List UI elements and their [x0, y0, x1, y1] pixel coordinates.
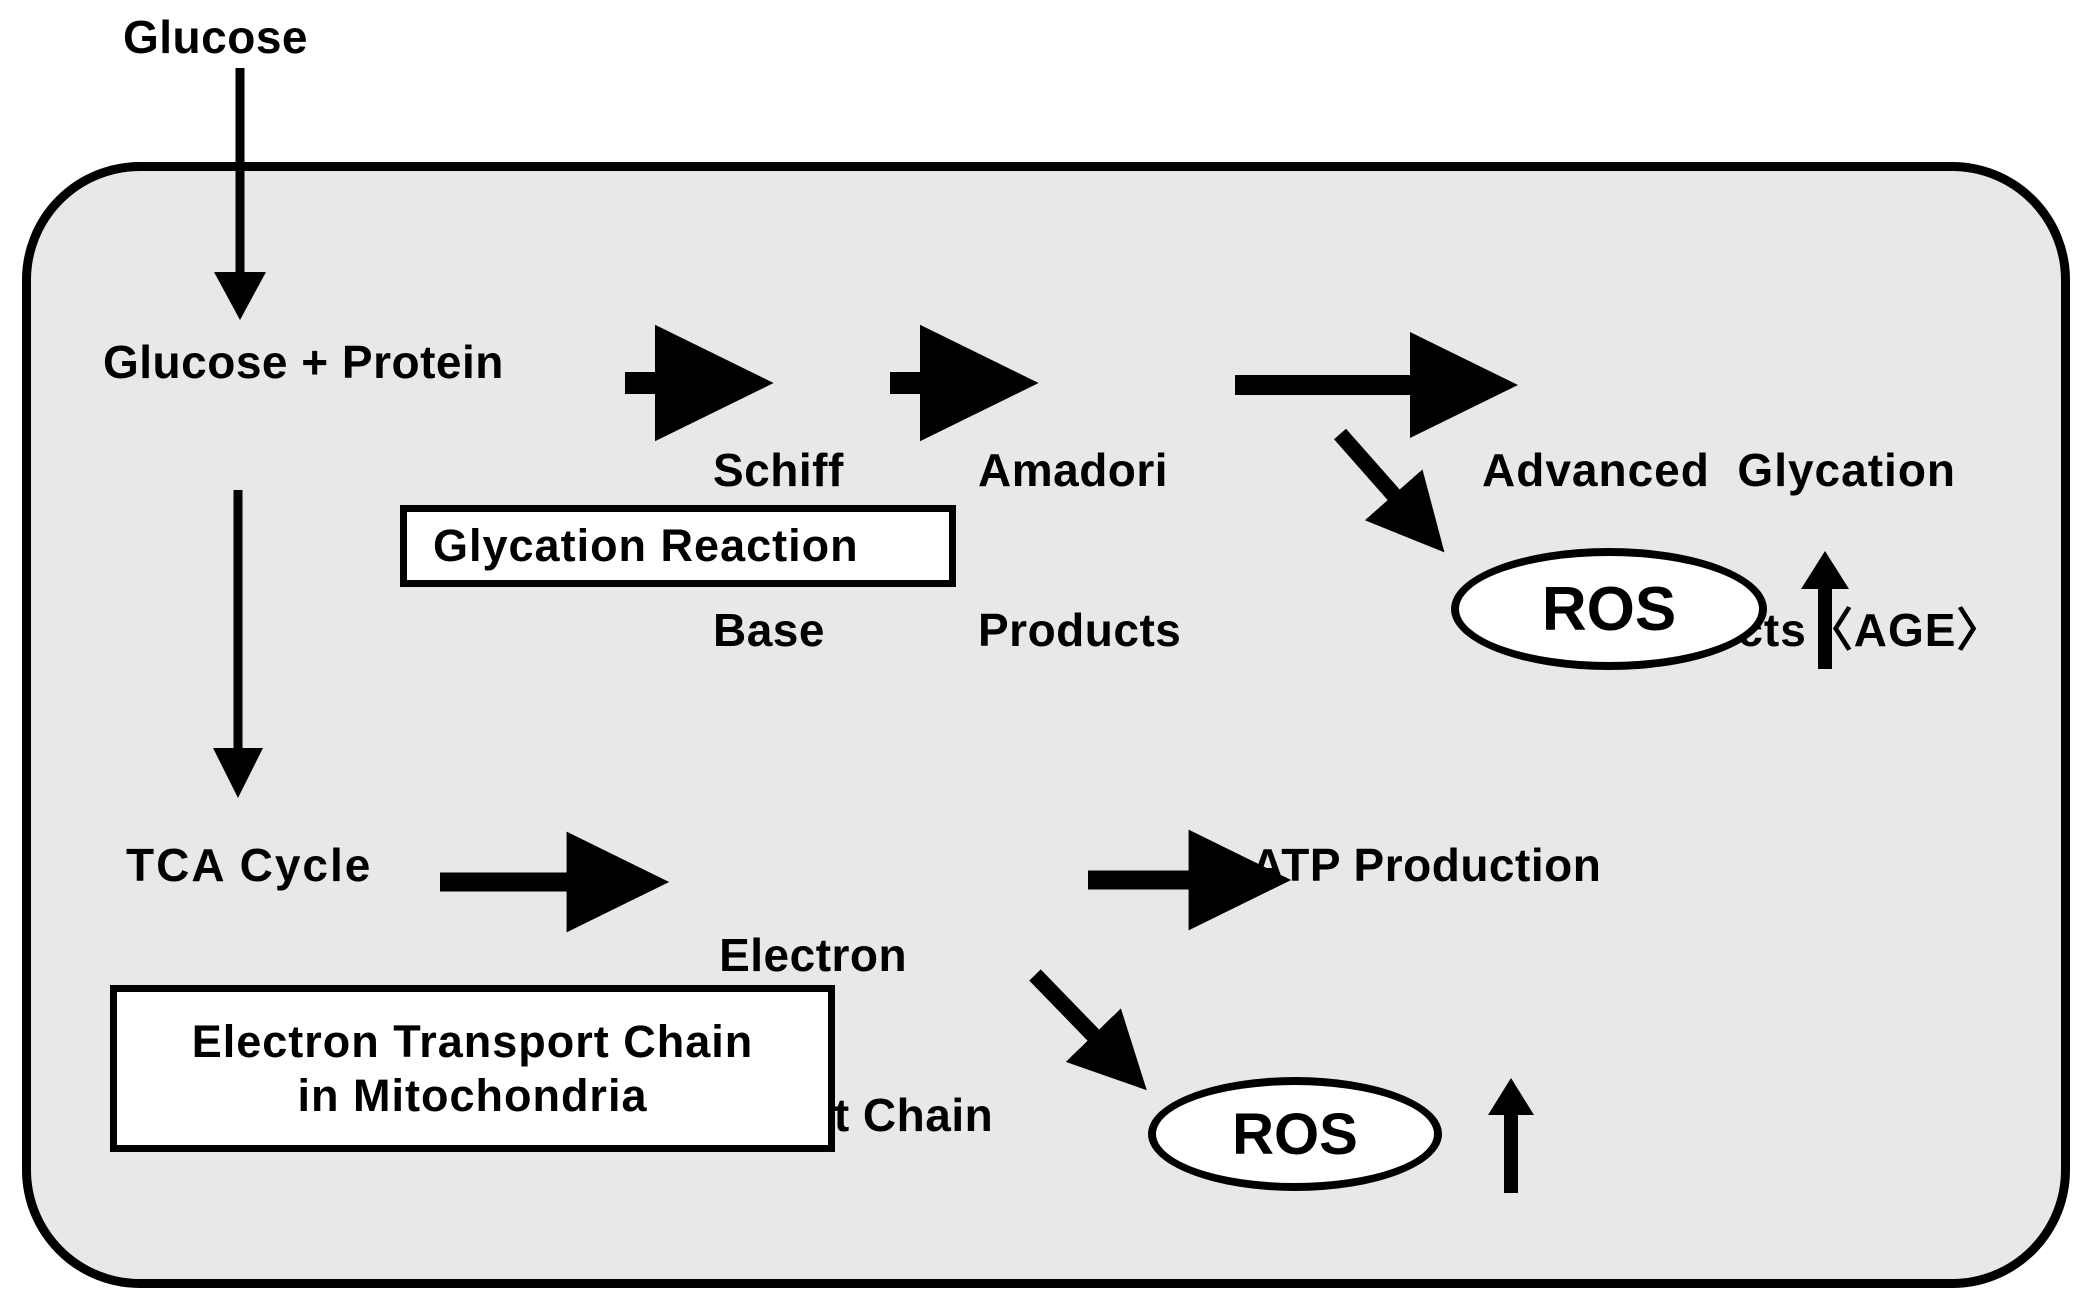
caption-box-glycation-reaction: Glycation Reaction — [400, 505, 956, 587]
node-glucose-external: Glucose — [123, 12, 308, 64]
node-ros-bottom: ROS — [1148, 1077, 1442, 1191]
caption-glycation-reaction-label: Glycation Reaction — [433, 520, 859, 572]
caption-mito-line1: Electron Transport Chain — [192, 1015, 754, 1069]
node-amadori-line1: Amadori — [978, 444, 1181, 497]
node-amadori-line2: Products — [978, 604, 1181, 657]
diagram-canvas: Glucose Glucose + Protein Schiff Base Am… — [0, 0, 2097, 1316]
caption-box-electron-transport-chain-mitochondria: Electron Transport Chain in Mitochondria — [110, 985, 835, 1152]
node-schiff-base-line2: Base — [713, 604, 844, 657]
node-atp-production: ATP Production — [1251, 840, 1601, 892]
node-glucose-plus-protein: Glucose + Protein — [103, 337, 504, 389]
up-arrow-icon-top — [1797, 551, 1853, 671]
up-arrow-icon-bottom — [1484, 1078, 1538, 1194]
node-ros-bottom-label: ROS — [1232, 1101, 1358, 1168]
node-tca-cycle: TCA Cycle — [126, 840, 372, 892]
node-etc-line1: Electron — [633, 929, 993, 982]
node-age-line1: Advanced Glycation — [1482, 444, 2003, 497]
node-ros-top-label: ROS — [1542, 574, 1676, 645]
node-amadori-products: Amadori Products — [978, 337, 1181, 764]
caption-mito-line2: in Mitochondria — [298, 1069, 648, 1123]
node-ros-top: ROS — [1451, 548, 1767, 670]
node-schiff-base-line1: Schiff — [713, 444, 844, 497]
